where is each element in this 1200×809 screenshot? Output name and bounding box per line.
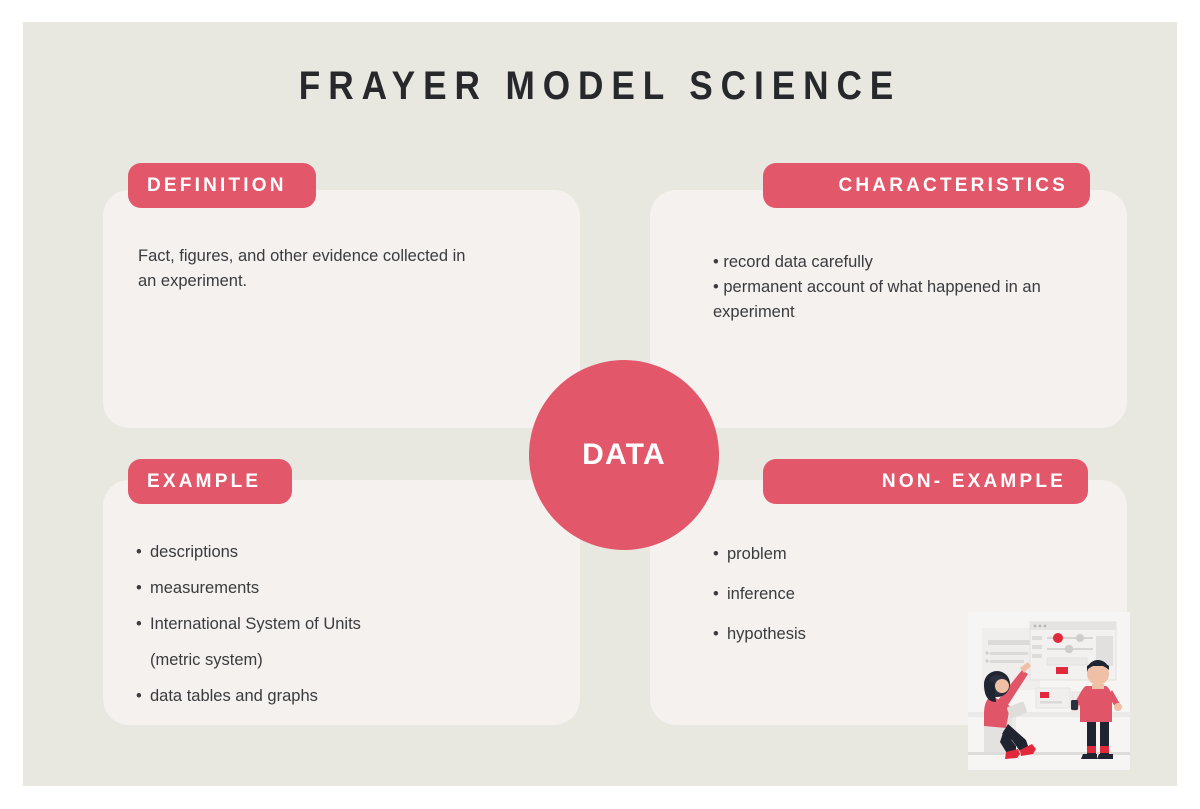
bullet-glyph: •	[136, 570, 150, 606]
list-item-label: inference	[727, 585, 795, 603]
example-list: •descriptions•measurements•International…	[136, 534, 536, 714]
list-item-label: descriptions	[150, 543, 238, 561]
list-item-continuation: (metric system)	[136, 642, 536, 678]
badge-definition-label: DEFINITION	[147, 175, 287, 197]
bullet-glyph: •	[713, 574, 727, 614]
list-item: •measurements	[136, 570, 536, 606]
bullet-glyph: •	[713, 534, 727, 574]
definition-text: Fact, figures, and other evidence collec…	[138, 244, 468, 294]
list-item: •inference	[713, 574, 1073, 614]
characteristics-text: • record data carefully • permanent acco…	[713, 250, 1063, 325]
badge-non-example-label: NON- EXAMPLE	[882, 471, 1066, 493]
two-people-dashboard-illustration	[968, 612, 1130, 770]
badge-characteristics-label: CHARACTERISTICS	[838, 175, 1068, 197]
list-item-label: data tables and graphs	[150, 687, 318, 705]
badge-example: EXAMPLE	[128, 459, 292, 504]
list-item: •problem	[713, 534, 1073, 574]
list-item: •data tables and graphs	[136, 678, 536, 714]
badge-characteristics: CHARACTERISTICS	[763, 163, 1090, 208]
badge-non-example: NON- EXAMPLE	[763, 459, 1088, 504]
center-term-circle: DATA	[529, 360, 719, 550]
list-item-label: hypothesis	[727, 625, 806, 643]
list-item: •descriptions	[136, 534, 536, 570]
bullet-glyph: •	[713, 614, 727, 654]
bullet-glyph: •	[136, 606, 150, 642]
poster-canvas: FRAYER MODEL SCIENCE DEFINITION CHARACTE…	[23, 22, 1177, 786]
bullet-glyph: •	[136, 678, 150, 714]
center-term-label: DATA	[582, 438, 666, 472]
badge-example-label: EXAMPLE	[147, 471, 261, 493]
list-item: •International System of Units(metric sy…	[136, 606, 536, 678]
badge-definition: DEFINITION	[128, 163, 316, 208]
page-title: FRAYER MODEL SCIENCE	[92, 64, 1108, 109]
bullet-glyph: •	[136, 534, 150, 570]
list-item-label: International System of Units	[150, 615, 361, 633]
list-item-label: measurements	[150, 579, 259, 597]
quadrant-card-definition	[103, 190, 580, 428]
list-item-label: problem	[727, 545, 787, 563]
